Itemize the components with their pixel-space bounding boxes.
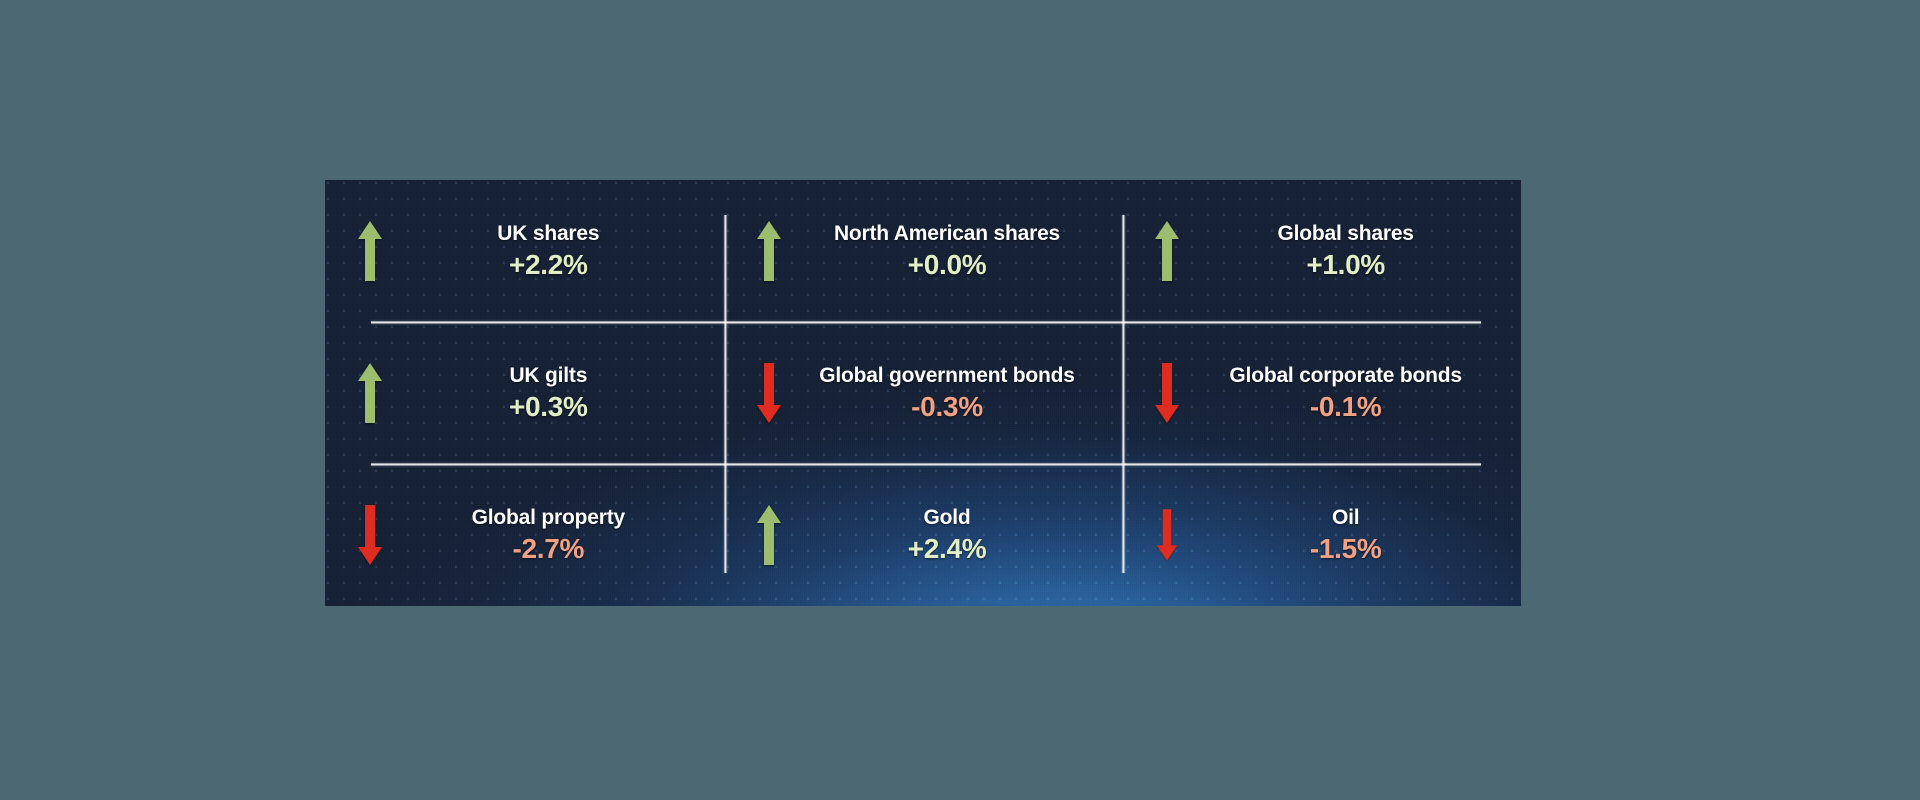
asset-label: Oil	[1332, 507, 1359, 528]
arrow-up-icon	[347, 220, 393, 282]
cell-text-block: Global government bonds -0.3%	[792, 365, 1109, 421]
asset-label: UK shares	[497, 223, 599, 244]
arrow-down-icon	[1144, 504, 1190, 566]
cell-text-block: North American shares +0.0%	[792, 223, 1109, 279]
arrow-up-icon	[1144, 220, 1190, 282]
grid-cell-global-corporate-bonds[interactable]: Global corporate bonds -0.1%	[1122, 322, 1521, 464]
grid-cell-gold[interactable]: Gold +2.4%	[724, 464, 1123, 606]
asset-label: North American shares	[834, 223, 1060, 244]
arrow-up-icon	[347, 362, 393, 424]
grid-cell-uk-gilts[interactable]: UK gilts +0.3%	[325, 322, 724, 464]
asset-value: -1.5%	[1310, 535, 1382, 563]
cell-text-block: Gold +2.4%	[792, 507, 1109, 563]
arrow-down-icon	[1144, 362, 1190, 424]
asset-label: Gold	[923, 507, 970, 528]
grid-cell-global-property[interactable]: Global property -2.7%	[325, 464, 724, 606]
grid-cell-oil[interactable]: Oil -1.5%	[1122, 464, 1521, 606]
asset-label: Global shares	[1278, 223, 1414, 244]
asset-value: +0.0%	[908, 251, 987, 279]
grid-cell-north-american-shares[interactable]: North American shares +0.0%	[724, 180, 1123, 322]
grid-cell-uk-shares[interactable]: UK shares +2.2%	[325, 180, 724, 322]
cell-text-block: UK shares +2.2%	[393, 223, 710, 279]
arrow-up-icon	[746, 504, 792, 566]
asset-label: Global government bonds	[819, 365, 1075, 386]
market-performance-panel: UK shares +2.2% North American shares +0…	[325, 180, 1521, 606]
cell-text-block: Oil -1.5%	[1190, 507, 1507, 563]
asset-value: +0.3%	[509, 393, 588, 421]
cell-text-block: Global corporate bonds -0.1%	[1190, 365, 1507, 421]
asset-label: UK gilts	[509, 365, 587, 386]
asset-value: -2.7%	[513, 535, 585, 563]
asset-value: -0.1%	[1310, 393, 1382, 421]
cell-text-block: Global property -2.7%	[393, 507, 710, 563]
grid-cell-global-government-bonds[interactable]: Global government bonds -0.3%	[724, 322, 1123, 464]
cell-text-block: Global shares +1.0%	[1190, 223, 1507, 279]
asset-value: +2.4%	[908, 535, 987, 563]
grid-cell-global-shares[interactable]: Global shares +1.0%	[1122, 180, 1521, 322]
arrow-down-icon	[746, 362, 792, 424]
asset-label: Global corporate bonds	[1229, 365, 1461, 386]
asset-value: +1.0%	[1306, 251, 1385, 279]
asset-label: Global property	[472, 507, 625, 528]
asset-value: -0.3%	[911, 393, 983, 421]
market-performance-grid: UK shares +2.2% North American shares +0…	[325, 180, 1521, 606]
arrow-up-icon	[746, 220, 792, 282]
cell-text-block: UK gilts +0.3%	[393, 365, 710, 421]
arrow-down-icon	[347, 504, 393, 566]
asset-value: +2.2%	[509, 251, 588, 279]
